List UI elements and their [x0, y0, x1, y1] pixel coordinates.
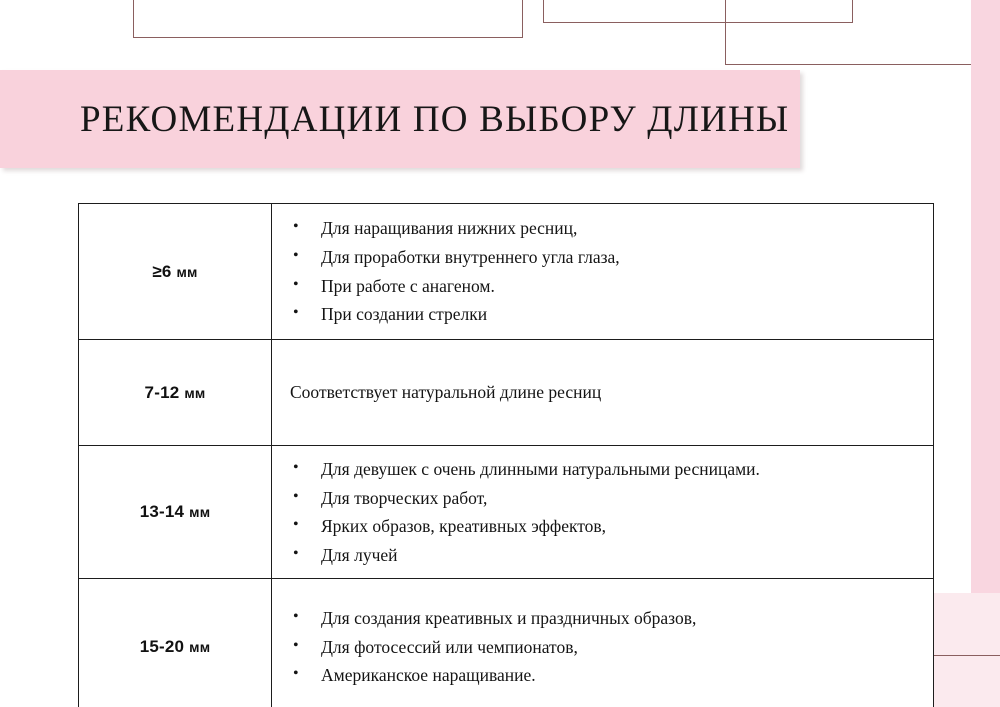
slide-canvas: РЕКОМЕНДАЦИИ ПО ВЫБОРУ ДЛИНЫ ≥6 мм • Для…	[0, 0, 1000, 707]
list-item-label: Для лучей	[321, 545, 398, 565]
list-item: • Для творческих работ,	[286, 484, 923, 513]
bullet-icon: •	[293, 455, 299, 481]
description-cell: • Для наращивания нижних ресниц, • Для п…	[272, 204, 934, 340]
bullet-icon: •	[293, 484, 299, 510]
list-item-label: Для фотосессий или чемпионатов,	[321, 637, 578, 657]
list-item-label: Для создания креативных и праздничных об…	[321, 608, 696, 628]
description-cell: • Для создания креативных и праздничных …	[272, 579, 934, 707]
range-cell: ≥6 мм	[79, 204, 272, 340]
list-item: • Для наращивания нижних ресниц,	[286, 214, 923, 243]
list-item: • При работе с анагеном.	[286, 272, 923, 301]
list-item-label: Для наращивания нижних ресниц,	[321, 218, 577, 238]
list-item: • При создании стрелки	[286, 300, 923, 329]
range-cell: 13-14 мм	[79, 446, 272, 579]
bullet-icon: •	[293, 661, 299, 687]
list-item: • Ярких образов, креативных эффектов,	[286, 512, 923, 541]
bullet-icon: •	[293, 512, 299, 538]
list-item-label: Для девушек с очень длинными натуральным…	[321, 459, 760, 479]
list-item: • Для девушек с очень длинными натуральн…	[286, 455, 923, 484]
bullet-list: • Для наращивания нижних ресниц, • Для п…	[286, 214, 923, 328]
lash-length-recommendation-table: ≥6 мм • Для наращивания нижних ресниц, •…	[78, 203, 934, 707]
page-title: РЕКОМЕНДАЦИИ ПО ВЫБОРУ ДЛИНЫ	[80, 98, 789, 141]
list-item-label: Для проработки внутреннего угла глаза,	[321, 247, 620, 267]
description-cell: • Для девушек с очень длинными натуральн…	[272, 446, 934, 579]
range-unit: мм	[189, 504, 210, 520]
bullet-icon: •	[293, 541, 299, 567]
range-value: 13-14	[140, 502, 184, 521]
range-cell: 15-20 мм	[79, 579, 272, 707]
bullet-list: • Для создания креативных и праздничных …	[286, 604, 923, 690]
list-item-label: При создании стрелки	[321, 304, 487, 324]
range-value: ≥6	[152, 262, 171, 281]
table-row: 7-12 мм Соответствует натуральной длине …	[79, 340, 934, 446]
table-row: ≥6 мм • Для наращивания нижних ресниц, •…	[79, 204, 934, 340]
description-cell: Соответствует натуральной длине ресниц	[272, 340, 934, 446]
bullet-icon: •	[293, 300, 299, 326]
list-item: • Для лучей	[286, 541, 923, 570]
range-cell: 7-12 мм	[79, 340, 272, 446]
table-row: 15-20 мм • Для создания креативных и пра…	[79, 579, 934, 707]
range-value: 15-20	[140, 637, 184, 656]
list-item-label: Для творческих работ,	[321, 488, 487, 508]
decor-frame-top-right	[725, 0, 1000, 65]
list-item: • Для проработки внутреннего угла глаза,	[286, 243, 923, 272]
list-item: • Для создания креативных и праздничных …	[286, 604, 923, 633]
range-unit: мм	[184, 385, 205, 401]
bullet-icon: •	[293, 214, 299, 240]
bullet-icon: •	[293, 272, 299, 298]
bullet-icon: •	[293, 243, 299, 269]
list-item-label: Американское наращивание.	[321, 665, 536, 685]
list-item: • Американское наращивание.	[286, 661, 923, 690]
bullet-list: • Для девушек с очень длинными натуральн…	[286, 455, 923, 569]
list-item: • Для фотосессий или чемпионатов,	[286, 633, 923, 662]
range-value: 7-12	[145, 383, 180, 402]
list-item-label: При работе с анагеном.	[321, 276, 495, 296]
range-unit: мм	[177, 264, 198, 280]
table-row: 13-14 мм • Для девушек с очень длинными …	[79, 446, 934, 579]
list-item-label: Ярких образов, креативных эффектов,	[321, 516, 606, 536]
range-unit: мм	[189, 639, 210, 655]
bullet-icon: •	[293, 633, 299, 659]
description-text: Соответствует натуральной длине ресниц	[286, 379, 923, 405]
bullet-icon: •	[293, 604, 299, 630]
title-banner: РЕКОМЕНДАЦИИ ПО ВЫБОРУ ДЛИНЫ	[0, 70, 800, 168]
decor-frame-top-left	[133, 0, 523, 38]
